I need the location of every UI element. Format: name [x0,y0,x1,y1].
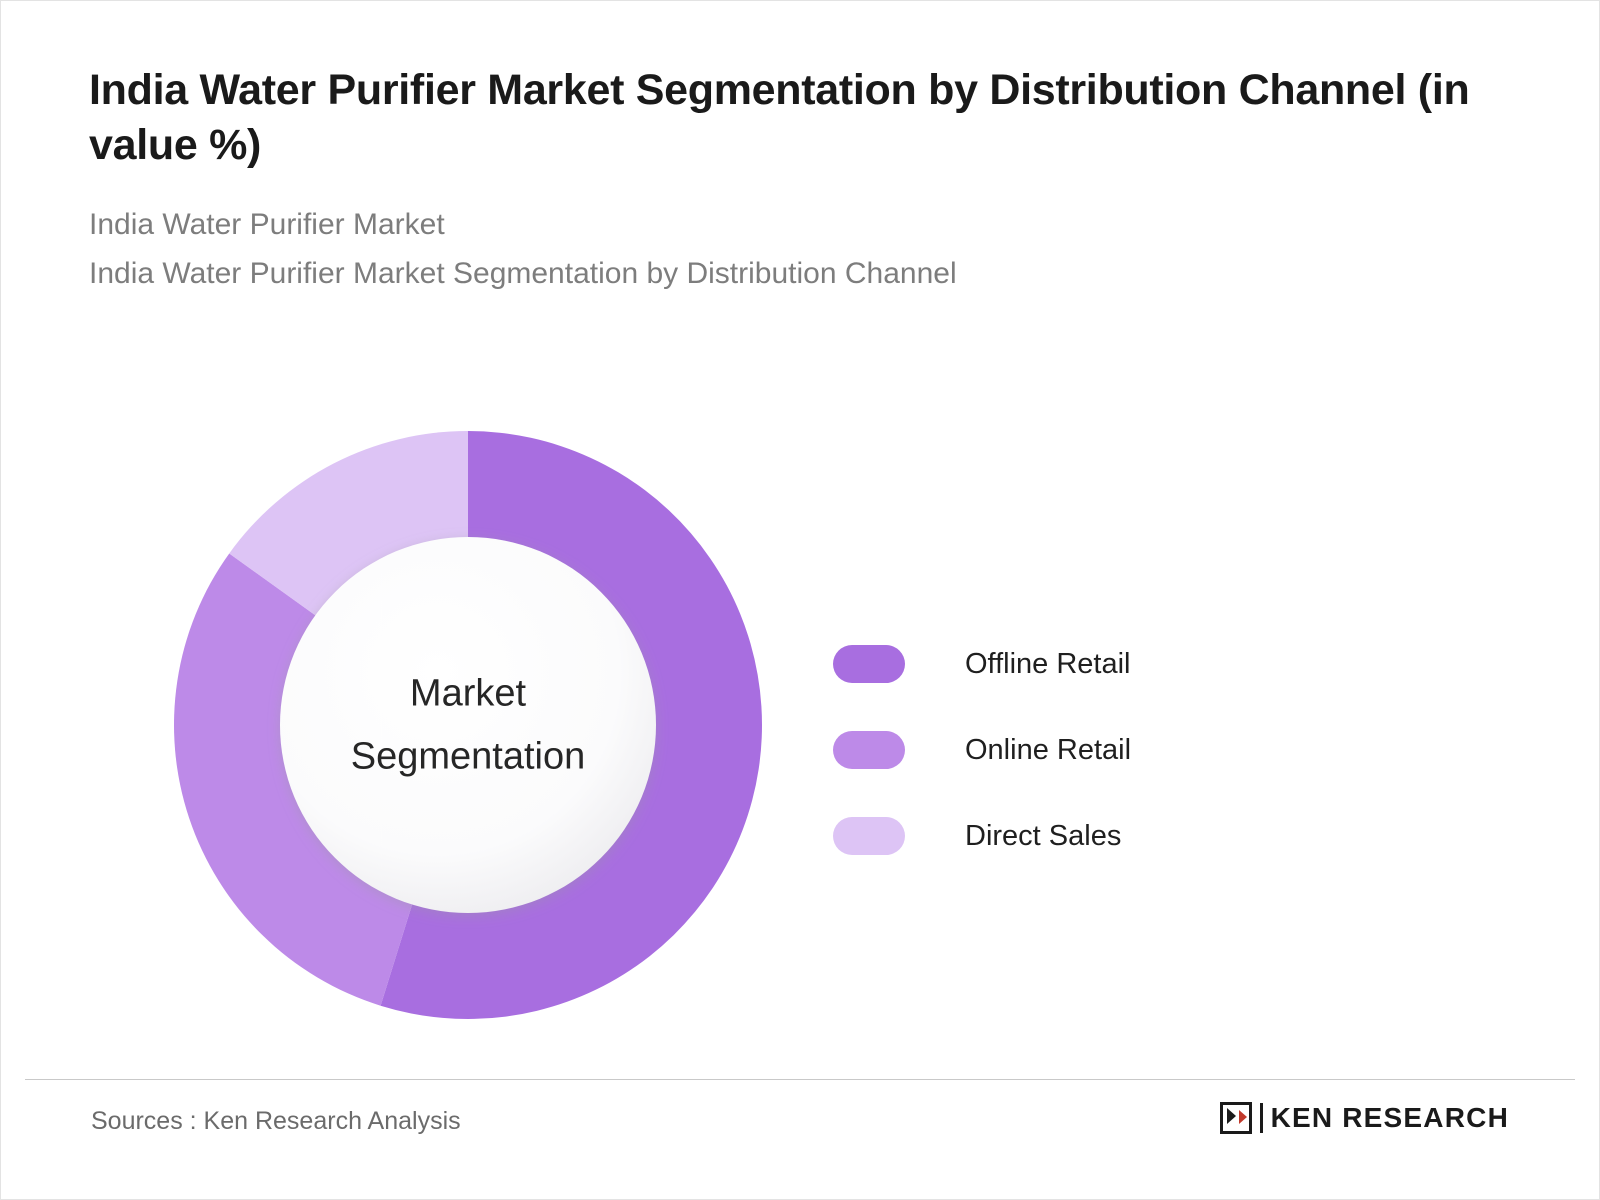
legend-item-offline-retail[interactable]: Offline Retail [833,621,1131,707]
logo-divider-icon [1260,1103,1263,1133]
subtitle-block: India Water Purifier Market India Water … [89,201,1509,298]
page-title: India Water Purifier Market Segmentation… [89,63,1479,173]
legend-swatch-icon [833,645,905,683]
legend-item-label: Online Retail [965,734,1131,767]
source-text: Sources : Ken Research Analysis [91,1107,461,1136]
subtitle-line-1: India Water Purifier Market [89,201,1509,250]
brand-name: KEN RESEARCH [1271,1102,1509,1134]
chart-area: Market Segmentation Offline Retail Onlin… [1,381,1600,1061]
ken-research-k-mark-icon [1220,1102,1252,1134]
legend-swatch-icon [833,731,905,769]
donut-chart: Market Segmentation [174,431,762,1019]
chart-footer: Sources : Ken Research Analysis KEN RESE… [1,1080,1600,1200]
brand-logo: KEN RESEARCH [1220,1102,1509,1134]
chart-page: India Water Purifier Market Segmentation… [0,0,1600,1200]
chart-header: India Water Purifier Market Segmentation… [89,63,1509,298]
legend-item-online-retail[interactable]: Online Retail [833,707,1131,793]
chart-legend: Offline Retail Online Retail Direct Sale… [833,621,1131,879]
legend-swatch-icon [833,817,905,855]
legend-item-label: Offline Retail [965,648,1131,681]
legend-item-label: Direct Sales [965,820,1121,853]
legend-item-direct-sales[interactable]: Direct Sales [833,793,1131,879]
donut-svg [174,431,762,1019]
donut-hole [280,537,656,913]
subtitle-line-2: India Water Purifier Market Segmentation… [89,250,1509,299]
